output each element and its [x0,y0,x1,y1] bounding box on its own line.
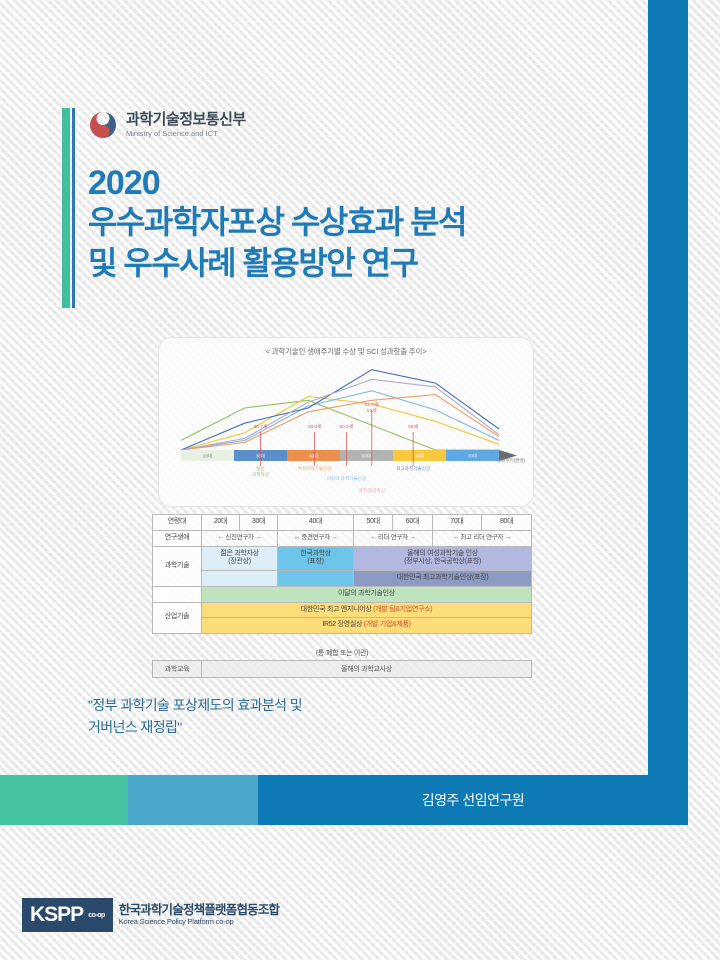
quote-line-2: 거버넌스 재정립" [88,716,508,738]
kspp-coop-mark: co-op [88,912,105,919]
award-sub: (개발 팀&기업연구소) [373,606,432,613]
career-stage-cell: ← 최고 리더 연구자 → [432,530,531,546]
award-cell-women: 올해의 여성과학기술 인상 (정부시상, 한국공학상(표창) [354,546,532,571]
award-cell-teacher: 올해의 과학교사상 [202,661,532,678]
table-row-education: 과학교육 올해의 과학교사상 [153,661,532,678]
chart-annotation: 여성과학기술인상 [298,465,333,472]
chart-series-group [181,370,499,450]
author-name: 김영주 선임연구원 [258,775,688,825]
age-cell: 40대 [278,515,354,531]
chart-xlabel: 생애주기(연령) [497,457,526,464]
table-row-industry-2: IR52 장영실상 (개발 기업&제품) [153,618,532,634]
education-award-table: 과학교육 올해의 과학교사상 [152,660,532,678]
merge-note: (통·폐합 또는 이관) [152,648,532,658]
award-sub: (장관상) [228,558,250,565]
award-sub: (표창) [307,558,323,565]
ministry-name-en: Ministry of Science and ICT [126,130,246,138]
row-label-blank-month [153,586,202,602]
table-row-career-stage: 연구생애 ← 신진연구자 → ← 중견연구자 → ← 리더 연구자 → ← 최고… [153,530,532,546]
age-band-label: 20대 [203,453,212,460]
chart-line-최고과학기술인상 [181,370,499,450]
award-name: 올해의 여성과학기술 인상 [407,550,478,557]
row-label-industry: 산업기술 [153,602,202,634]
accent-blue-stripe [72,108,75,308]
award-name: 젊은 과학자상 [220,550,259,557]
award-sub: (개발 기업&제품) [364,621,411,628]
row-label-age: 연령대 [153,515,202,531]
award-cell-month: 이달의 과학기술인상 [202,586,532,602]
age-cell: 80대 [482,515,532,531]
chart-annotation: 이달의 과학기술인상 [327,475,367,482]
chart-annotation: 과학자상 [252,471,270,478]
chart-annotations: 젊은과학자상여성과학기술인상이달의 과학기술인상과학상/공학상최고과학기술인상 [252,465,431,494]
award-cell-ir52: IR52 장영실상 (개발 기업&제품) [202,618,532,634]
title-year: 2020 [88,166,648,202]
award-cell-korea-science: 한국과학상 (표창) [278,546,354,571]
ministry-name-ko: 과학기술정보통신부 [126,112,246,128]
marker-age-label: 51.7세/ [364,401,380,408]
age-band-label: 60대 [415,453,424,460]
age-band-label: 50대 [362,453,371,460]
career-stage-cell: ← 리더 연구자 → [354,530,433,546]
age-band-label: 40대 [309,453,318,460]
age-cell: 70대 [432,515,482,531]
left-accent-bar [62,108,76,308]
chart-annotation: 젊은 [256,465,264,471]
table-row-sci-awards: 과학기술 젊은 과학자상 (장관상) 한국과학상 (표창) 올해의 여성과학기술… [153,546,532,571]
page-title: 2020 우수과학자포상 수상효과 분석 및 우수사례 활용방안 연구 [88,166,648,284]
award-name: 대한민국 최고 엔지니어상 [301,606,373,613]
chart-age-bands: 20대30대40대50대60대70대 [181,450,517,461]
kspp-org-en: Korea Science Policy Platform co-op [119,918,280,926]
age-cell: 50대 [354,515,393,531]
award-name: 한국과학상 [300,550,331,557]
quote-line-1: "정부 과학기술 포상제도의 효과분석 및 [88,694,508,716]
award-sub: (정부시상, 한국공학상(표창) [404,558,481,565]
title-line-1: 우수과학자포상 수상효과 분석 [88,202,648,243]
title-line-2: 및 우수사례 활용방안 연구 [88,243,648,284]
age-cell: 30대 [240,515,278,531]
award-cell-young-cont [202,571,278,587]
kspp-footer-logo: KSPP co-op 한국과학기술정책플랫폼협동조합 Korea Science… [22,898,279,932]
marker-age-label: 48.5세 [308,423,322,430]
table-row-ages: 연령대 20대 30대 40대 50대 60대 70대 80대 [153,515,532,531]
age-band-label: 70대 [468,453,477,460]
age-cell: 20대 [202,515,240,531]
taegeuk-icon [88,110,118,140]
award-name: IR52 장영실상 [322,621,363,628]
lifecycle-chart-card: < 과학기술인 생애주기별 수상 및 SCI 성과창출 추이> 20대30대40… [158,337,534,507]
band-segment-teal [128,775,258,825]
row-label-career: 연구생애 [153,530,202,546]
chart-annotation: 과학상/공학상 [358,487,385,494]
age-cell: 60대 [393,515,432,531]
marker-age-label: 56세 [408,423,418,430]
accent-green-stripe [62,108,70,308]
table-row-industry-1: 산업기술 대한민국 최고 엔지니어상 (개발 팀&기업연구소) [153,602,532,618]
award-cell-korea-cont [278,571,354,587]
award-cell-top-sci: 대한민국 최고과학기술인상(포장) [354,571,532,587]
kspp-org-ko: 한국과학기술정책플랫폼협동조합 [119,904,280,918]
lifecycle-chart-svg: 20대30대40대50대60대70대 36.7세48.5세50.2세51.7세/… [159,338,533,506]
kspp-badge: KSPP co-op [22,898,113,932]
table-row-top-award: 대한민국 최고과학기술인상(포장) [153,571,532,587]
career-stage-cell: ← 중견연구자 → [278,530,354,546]
career-award-table: 연령대 20대 30대 40대 50대 60대 70대 80대 연구생애 ← 신… [152,514,532,634]
marker-age-label: 51세 [367,407,377,414]
award-cell-young: 젊은 과학자상 (장관상) [202,546,278,571]
career-stage-cell: ← 신진연구자 → [202,530,278,546]
table-row-month-award: 이달의 과학기술인상 [153,586,532,602]
cover-sheet: 과학기술정보통신부 Ministry of Science and ICT 20… [0,0,720,960]
subtitle-quote: "정부 과학기술 포상제도의 효과분석 및 거버넌스 재정립" [88,694,508,739]
row-label-education: 과학교육 [153,661,202,678]
chart-annotation: 최고과학기술인상 [396,465,431,472]
ministry-logo: 과학기술정보통신부 Ministry of Science and ICT [88,110,246,140]
award-cell-engineer: 대한민국 최고 엔지니어상 (개발 팀&기업연구소) [202,602,532,618]
band-segment-green [0,775,128,825]
row-label-sci: 과학기술 [153,546,202,586]
right-accent-bar [648,0,688,775]
marker-age-label: 36.7세 [254,423,268,430]
chart-line-SCI 성과창출 [181,379,499,450]
bottom-color-band: 김영주 선임연구원 [0,775,720,825]
marker-age-label: 50.2세 [339,423,353,430]
kspp-acronym: KSPP [30,903,83,927]
